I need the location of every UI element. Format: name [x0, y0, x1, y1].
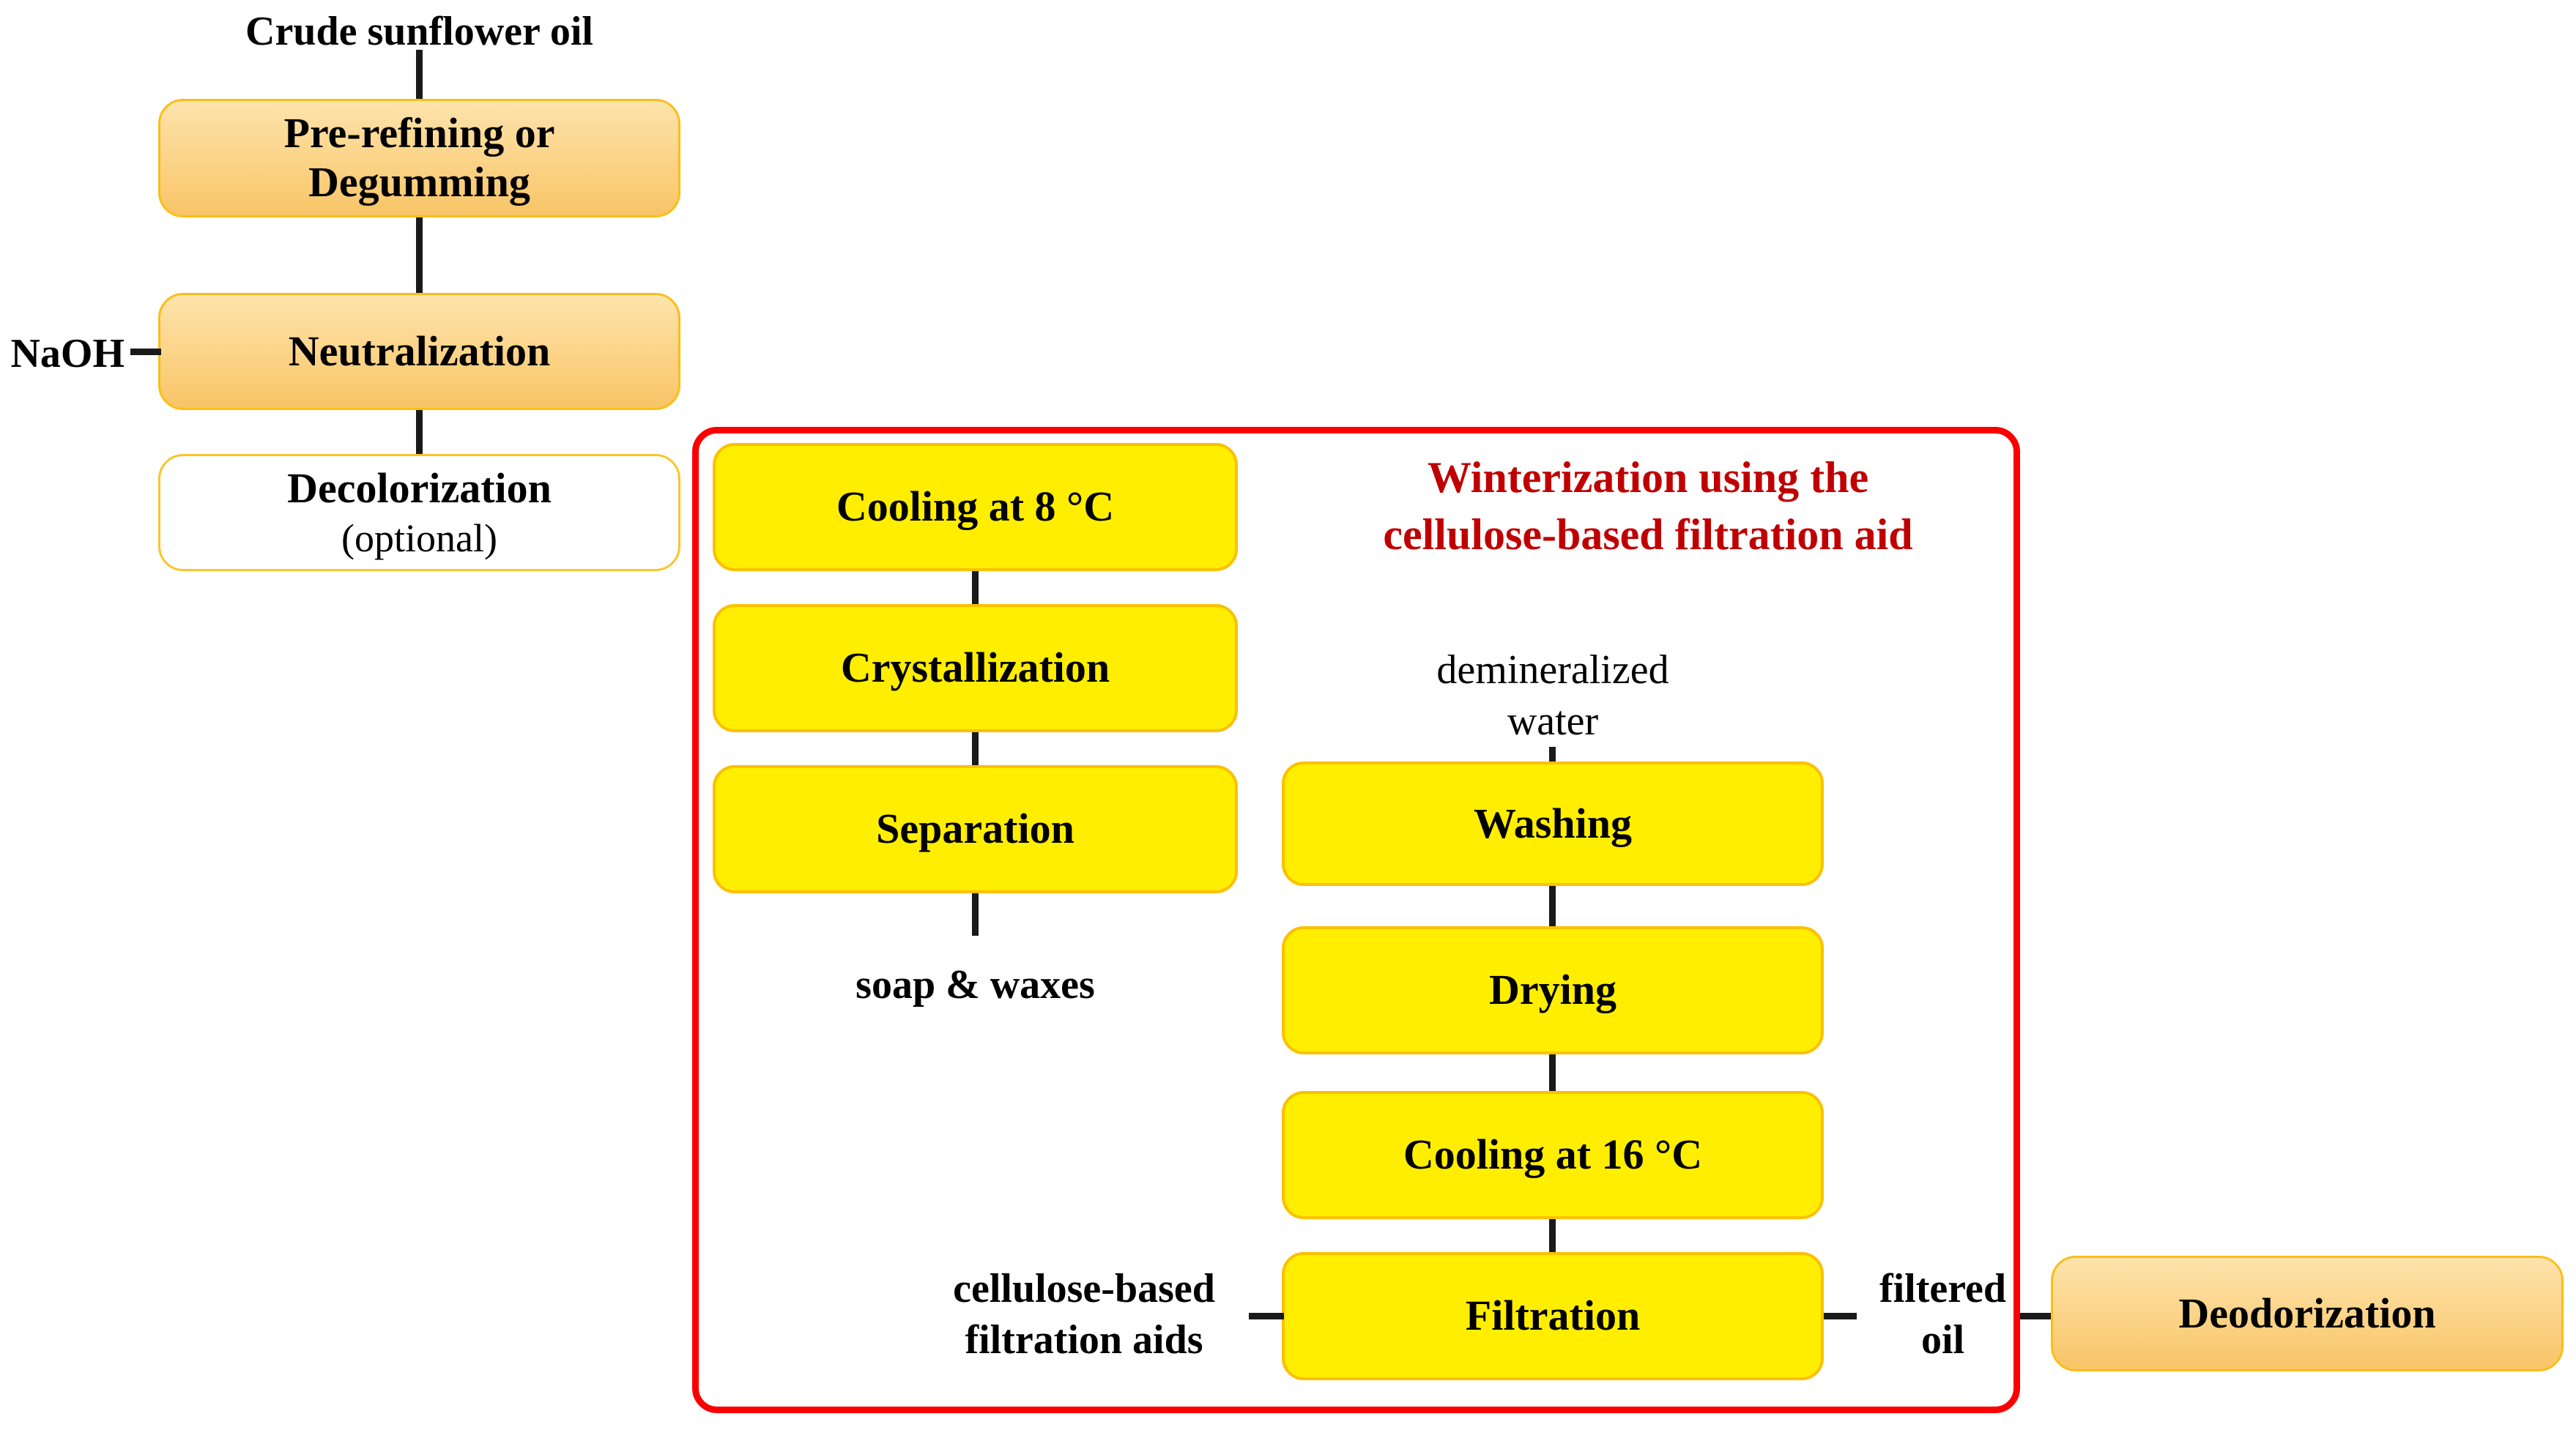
- connector-feedstock-to-prerefining: [416, 50, 423, 101]
- process-box-crystallization[interactable]: Crystallization: [713, 604, 1238, 732]
- connector-separation-to-soap-waxes: [972, 893, 979, 936]
- connector-filtration-to-filtered-oil: [1824, 1313, 1857, 1319]
- connector-aids-to-filtration: [1249, 1313, 1284, 1319]
- connector-filtered-oil-to-deodorization: [2020, 1313, 2055, 1319]
- connector-neutralization-to-decolorization: [416, 410, 423, 460]
- connector-prerefining-to-neutralization: [416, 217, 423, 298]
- process-box-drying-label: Drying: [1489, 966, 1617, 1015]
- process-box-cooling-8c-label: Cooling at 8 °C: [836, 483, 1114, 532]
- connector-cooling8-to-crystallization: [972, 571, 979, 606]
- process-box-neutralization[interactable]: Neutralization: [158, 293, 680, 410]
- connector-naoh-to-neutralization: [130, 349, 161, 355]
- process-box-crystallization-label: Crystallization: [841, 644, 1110, 693]
- process-box-separation-label: Separation: [876, 805, 1074, 854]
- process-flow-diagram: Crude sunflower oil Pre-refining or Degu…: [0, 0, 2576, 1430]
- process-box-decolorization-label: Decolorization: [287, 464, 552, 513]
- process-box-pre-refining[interactable]: Pre-refining or Degumming: [158, 99, 680, 217]
- connector-crystallization-to-separation: [972, 732, 979, 767]
- label-naoh: NaOH: [0, 328, 125, 379]
- process-box-neutralization-label: Neutralization: [289, 327, 551, 376]
- process-box-washing-label: Washing: [1474, 800, 1632, 849]
- label-demineralized-water: demineralized water: [1282, 644, 1824, 747]
- process-box-filtration-label: Filtration: [1466, 1292, 1640, 1341]
- process-box-deodorization-label: Deodorization: [2178, 1289, 2435, 1338]
- process-box-drying[interactable]: Drying: [1282, 926, 1824, 1054]
- process-box-pre-refining-label: Pre-refining or Degumming: [284, 109, 555, 206]
- process-box-filtration[interactable]: Filtration: [1282, 1252, 1824, 1380]
- process-box-separation[interactable]: Separation: [713, 765, 1238, 893]
- process-box-decolorization[interactable]: Decolorization (optional): [158, 454, 680, 571]
- winterization-title: Winterization using the cellulose-based …: [1289, 449, 2007, 563]
- process-box-deodorization[interactable]: Deodorization: [2051, 1256, 2564, 1371]
- label-filtered-oil: filtered oil: [1864, 1263, 2022, 1366]
- process-box-cooling-8c[interactable]: Cooling at 8 °C: [713, 443, 1238, 571]
- label-cellulose-filtration-aids: cellulose-based filtration aids: [930, 1263, 1238, 1366]
- process-box-cooling-16c[interactable]: Cooling at 16 °C: [1282, 1091, 1824, 1219]
- label-soap-and-waxes: soap & waxes: [713, 959, 1238, 1010]
- process-box-cooling-16c-label: Cooling at 16 °C: [1403, 1131, 1702, 1180]
- process-box-washing[interactable]: Washing: [1282, 761, 1824, 886]
- process-box-decolorization-sublabel: (optional): [341, 515, 497, 561]
